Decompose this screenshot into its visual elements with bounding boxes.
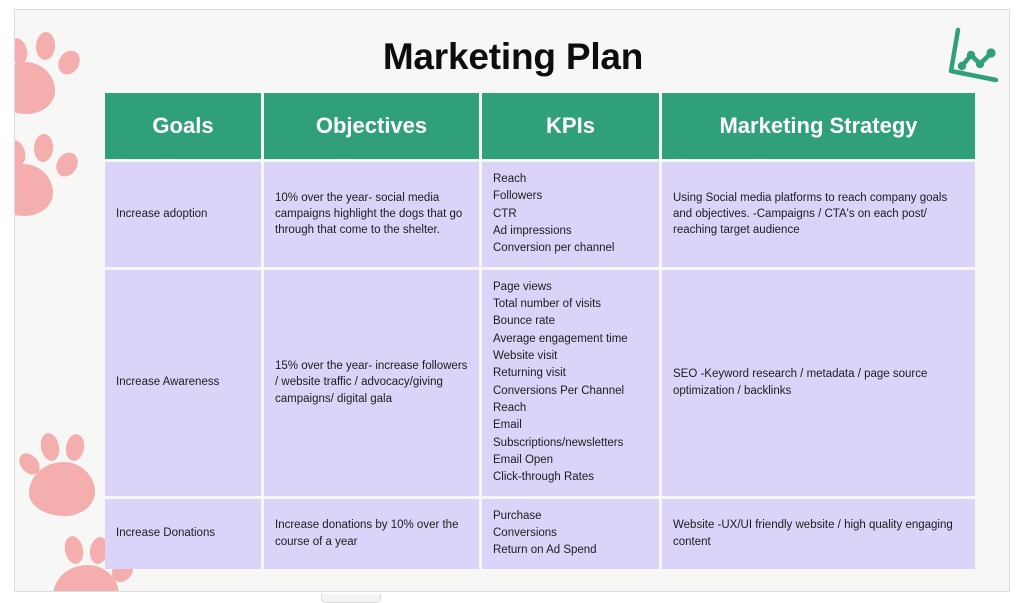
paw-pad <box>29 462 95 516</box>
paw-toe <box>15 449 44 478</box>
kpi-item: Bounce rate <box>493 313 648 329</box>
table-row: Increase Awareness 15% over the year- in… <box>105 270 975 496</box>
paw-toe <box>52 149 82 181</box>
kpi-item: Click-through Rates <box>493 469 648 485</box>
paw-toe <box>38 431 61 462</box>
paw-toe <box>62 534 85 565</box>
paw-toe <box>14 138 28 168</box>
kpi-item: Purchase <box>493 508 648 524</box>
marketing-plan-table: Goals Objectives KPIs Marketing Strategy… <box>102 90 978 572</box>
table-header-row: Goals Objectives KPIs Marketing Strategy <box>105 93 975 159</box>
page-title: Marketing Plan <box>15 36 1010 78</box>
paw-print-upper-left <box>14 132 83 214</box>
kpi-item: Website visit <box>493 348 648 364</box>
kpi-list: Purchase Conversions Return on Ad Spend <box>493 508 648 559</box>
cell-strategy: Using Social media platforms to reach co… <box>662 162 975 267</box>
kpi-item: Followers <box>493 188 648 204</box>
kpi-item: CTR <box>493 206 648 222</box>
slide-canvas: Marketing Plan Goals Objectives KPIs Mar… <box>14 9 1010 592</box>
cell-goal: Increase adoption <box>105 162 261 267</box>
kpi-item: Email Open <box>493 452 648 468</box>
column-header-strategy: Marketing Strategy <box>662 93 975 159</box>
kpi-item: Page views <box>493 279 648 295</box>
kpi-item: Total number of visits <box>493 296 648 312</box>
paw-toe <box>64 433 86 463</box>
cell-kpis: Page views Total number of visits Bounce… <box>482 270 659 496</box>
kpi-item: Subscriptions/newsletters <box>493 435 648 451</box>
kpi-item: Returning visit <box>493 365 648 381</box>
cell-goal: Increase Awareness <box>105 270 261 496</box>
cell-strategy: SEO -Keyword research / metadata / page … <box>662 270 975 496</box>
cell-kpis: Purchase Conversions Return on Ad Spend <box>482 499 659 569</box>
table-row: Increase Donations Increase donations by… <box>105 499 975 569</box>
cell-objective: Increase donations by 10% over the cours… <box>264 499 479 569</box>
kpi-item: Reach <box>493 171 648 187</box>
kpi-item: Conversions Per Channel <box>493 383 648 399</box>
cell-strategy: Website -UX/UI friendly website / high q… <box>662 499 975 569</box>
column-header-kpis: KPIs <box>482 93 659 159</box>
kpi-item: Return on Ad Spend <box>493 542 648 558</box>
paw-toe <box>33 133 54 162</box>
cell-kpis: Reach Followers CTR Ad impressions Conve… <box>482 162 659 267</box>
kpi-item: Reach <box>493 400 648 416</box>
cell-objective: 10% over the year- social media campaign… <box>264 162 479 267</box>
kpi-list: Page views Total number of visits Bounce… <box>493 279 648 486</box>
paw-pad <box>14 164 53 216</box>
column-header-goals: Goals <box>105 93 261 159</box>
table-row: Increase adoption 10% over the year- soc… <box>105 162 975 267</box>
cell-goal: Increase Donations <box>105 499 261 569</box>
kpi-list: Reach Followers CTR Ad impressions Conve… <box>493 171 648 257</box>
kpi-item: Email <box>493 417 648 433</box>
cell-objective: 15% over the year- increase followers / … <box>264 270 479 496</box>
kpi-item: Average engagement time <box>493 331 648 347</box>
kpi-item: Conversions <box>493 525 648 541</box>
kpi-item: Conversion per channel <box>493 240 648 256</box>
line-chart-logo-icon <box>946 24 1002 86</box>
kpi-item: Ad impressions <box>493 223 648 239</box>
column-header-objectives: Objectives <box>264 93 479 159</box>
